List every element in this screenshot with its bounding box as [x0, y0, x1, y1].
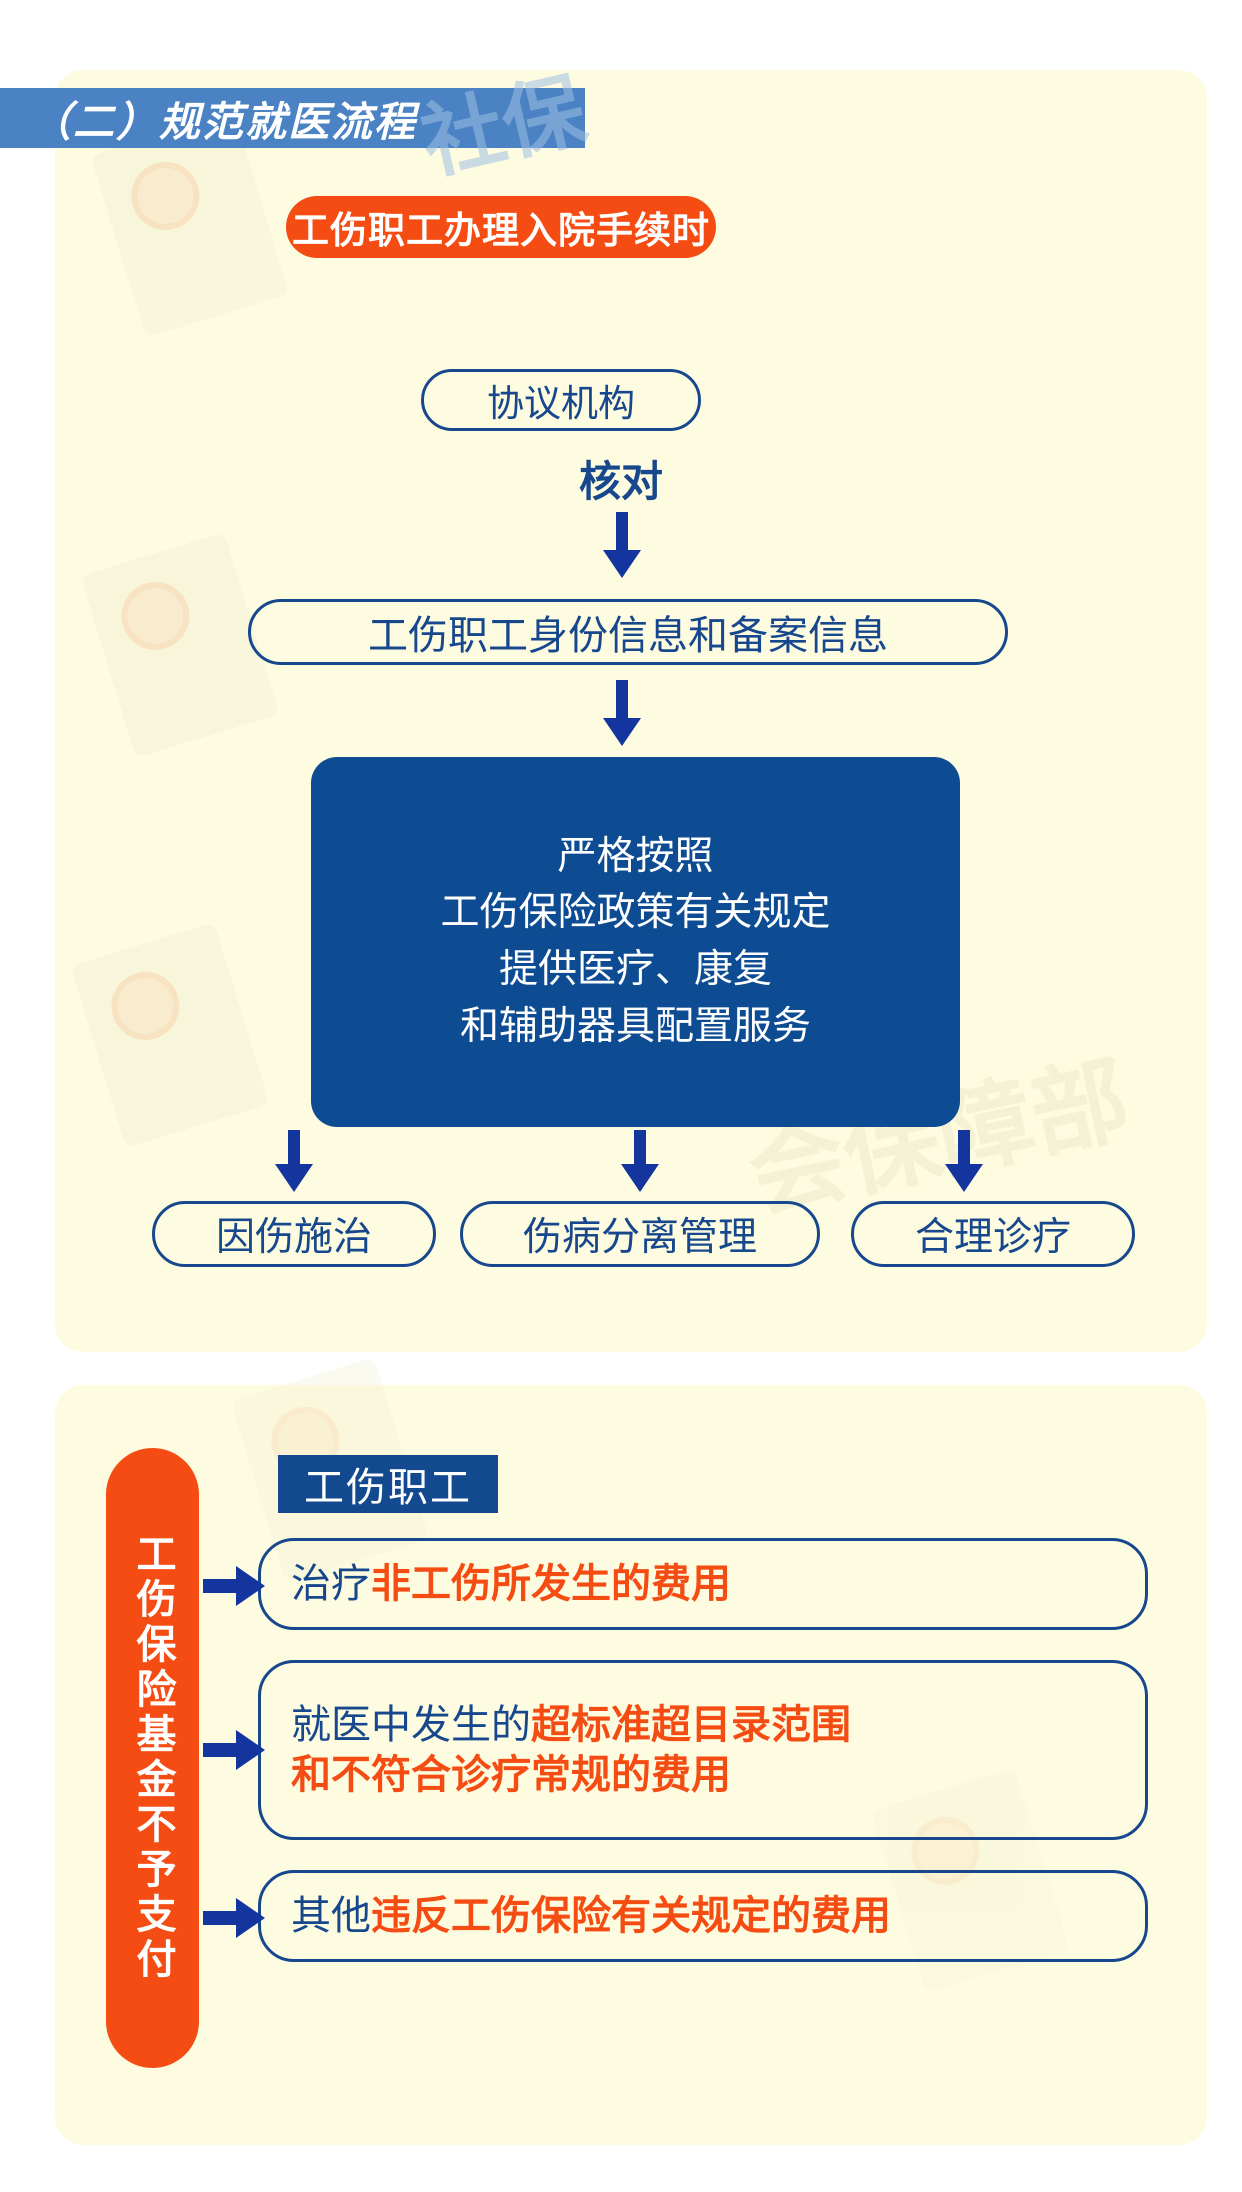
infographic-page: 人力 会保障部 （二）规范就医流程 社保 工伤职工办理入院手续时 协议机构 核对… [0, 0, 1242, 2192]
pill-identity-info-label: 工伤职工身份信息和备案信息 [368, 603, 888, 661]
flow-header-badge: 工伤职工办理入院手续时 [286, 196, 716, 258]
pill-agency: 协议机构 [421, 369, 701, 431]
rule-box-1-plain: 治疗 [291, 1562, 371, 1606]
pill-outcome-2-label: 伤病分离管理 [523, 1206, 757, 1262]
pill-outcome-3-label: 合理诊疗 [915, 1206, 1071, 1262]
section-title-banner: （二）规范就医流程 [0, 88, 585, 148]
policy-line-3: 提供医疗、康复 [499, 942, 772, 999]
rule-box-2-line-1: 就医中发生的超标准超目录范围 [291, 1700, 851, 1750]
right-arrow-icon [203, 1894, 265, 1947]
policy-line-2: 工伤保险政策有关规定 [440, 885, 830, 942]
rule-box-1-highlight: 非工伤所发生的费用 [371, 1560, 731, 1607]
down-arrow-icon [596, 512, 648, 578]
down-arrow-icon [268, 1130, 320, 1192]
rule-box-3-highlight: 违反工伤保险有关规定的费用 [371, 1892, 891, 1939]
watermark-badge-icon [81, 532, 280, 758]
worker-tag: 工伤职工 [278, 1455, 498, 1513]
policy-line-1: 严格按照 [557, 829, 713, 886]
rule-box-3: 其他违反工伤保险有关规定的费用 [258, 1870, 1148, 1962]
worker-tag-label: 工伤职工 [304, 1455, 472, 1513]
pill-outcome-3: 合理诊疗 [851, 1201, 1135, 1267]
non-payment-bar: 工伤保险基金不予支付 [106, 1448, 199, 2068]
pill-identity-info: 工伤职工身份信息和备案信息 [248, 599, 1008, 665]
non-payment-bar-label: 工伤保险基金不予支付 [133, 1533, 173, 1983]
check-label: 核对 [0, 448, 1242, 509]
watermark-badge-icon [71, 922, 270, 1148]
right-arrow-icon [203, 1562, 265, 1615]
rule-box-3-plain: 其他 [291, 1894, 371, 1938]
rule-box-2-plain: 就医中发生的 [291, 1703, 531, 1747]
pill-outcome-1: 因伤施治 [152, 1201, 436, 1267]
pill-outcome-2: 伤病分离管理 [460, 1201, 820, 1267]
down-arrow-icon [614, 1130, 666, 1192]
rule-box-2-line-2: 和不符合诊疗常规的费用 [291, 1750, 731, 1800]
policy-line-4: 和辅助器具配置服务 [460, 999, 811, 1056]
rule-box-2: 就医中发生的超标准超目录范围 和不符合诊疗常规的费用 [258, 1660, 1148, 1840]
down-arrow-icon [938, 1130, 990, 1192]
pill-agency-label: 协议机构 [487, 373, 635, 427]
rule-box-3-line: 其他违反工伤保险有关规定的费用 [291, 1891, 891, 1941]
policy-box: 严格按照 工伤保险政策有关规定 提供医疗、康复 和辅助器具配置服务 [311, 757, 960, 1127]
check-label-text: 核对 [579, 458, 663, 505]
rule-box-1-line: 治疗非工伤所发生的费用 [291, 1559, 731, 1609]
right-arrow-icon [203, 1726, 265, 1779]
rule-box-2-highlight-1: 超标准超目录范围 [531, 1701, 851, 1748]
rule-box-2-highlight-2: 和不符合诊疗常规的费用 [291, 1751, 731, 1798]
flow-header-text: 工伤职工办理入院手续时 [292, 200, 710, 254]
rule-box-1: 治疗非工伤所发生的费用 [258, 1538, 1148, 1630]
down-arrow-icon [596, 680, 648, 746]
section-title-text: （二）规范就医流程 [0, 88, 417, 148]
pill-outcome-1-label: 因伤施治 [216, 1206, 372, 1262]
